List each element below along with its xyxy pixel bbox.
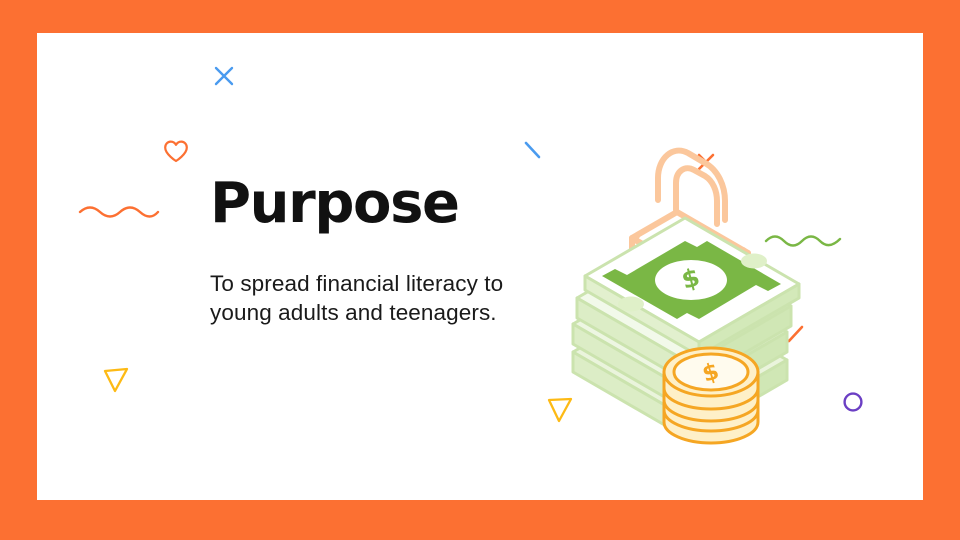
heart-orange-icon xyxy=(162,138,190,164)
triangle-yellow-left-icon xyxy=(101,366,131,394)
slash-blue-icon xyxy=(522,139,544,161)
page-title: Purpose xyxy=(210,176,540,232)
coin-stack: $ xyxy=(664,348,758,443)
slide-canvas: Purpose To spread financial literacy to … xyxy=(0,0,960,540)
illustration-padlock-money: $ xyxy=(555,128,845,468)
text-block: Purpose To spread financial literacy to … xyxy=(210,176,540,328)
wave-orange-left-icon xyxy=(77,201,161,223)
body-copy: To spread financial literacy to young ad… xyxy=(210,232,540,328)
cross-blue-top-left-icon xyxy=(211,63,237,89)
slide-card: Purpose To spread financial literacy to … xyxy=(37,33,923,500)
